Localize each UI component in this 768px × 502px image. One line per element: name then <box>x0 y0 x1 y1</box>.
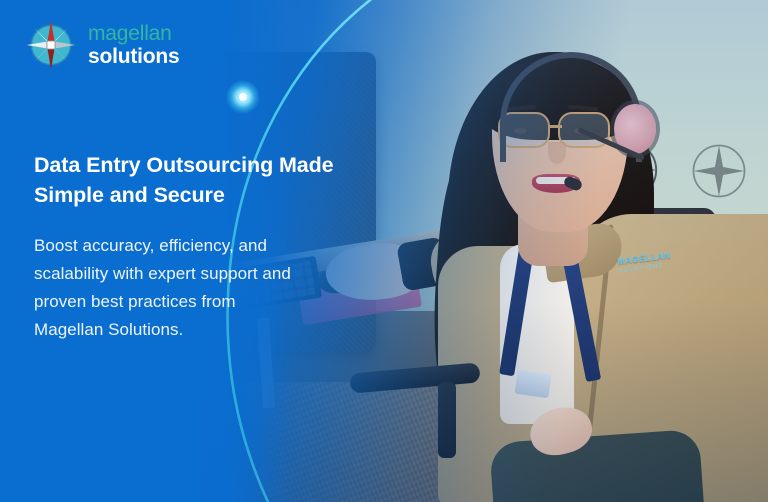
body-line-4: Magellan Solutions. <box>34 316 364 344</box>
id-badge <box>514 370 551 398</box>
headline-line-1: Data Entry Outsourcing Made <box>34 153 334 177</box>
logo-wordmark: magellan solutions <box>88 23 180 67</box>
body-line-1: Boost accuracy, efficiency, and <box>34 232 364 260</box>
magellan-compass-rose-icon <box>22 16 80 74</box>
chair-armrest-post <box>438 382 456 458</box>
hero-copy: Data Entry Outsourcing Made Simple and S… <box>34 150 364 344</box>
body-line-2: scalability with expert support and <box>34 260 364 288</box>
hero-banner: magellan solutions MAGELLAN SOLUTIONS <box>0 0 768 502</box>
logo-word-magellan: magellan <box>88 23 180 44</box>
body-line-3: proven best practices from <box>34 288 364 316</box>
headline-line-2: Simple and Secure <box>34 183 225 207</box>
page-title: Data Entry Outsourcing Made Simple and S… <box>34 150 364 210</box>
hero-subcopy: Boost accuracy, efficiency, and scalabil… <box>34 232 364 344</box>
logo-word-solutions: solutions <box>88 46 180 67</box>
magellan-solutions-logo[interactable]: magellan solutions <box>22 16 180 74</box>
